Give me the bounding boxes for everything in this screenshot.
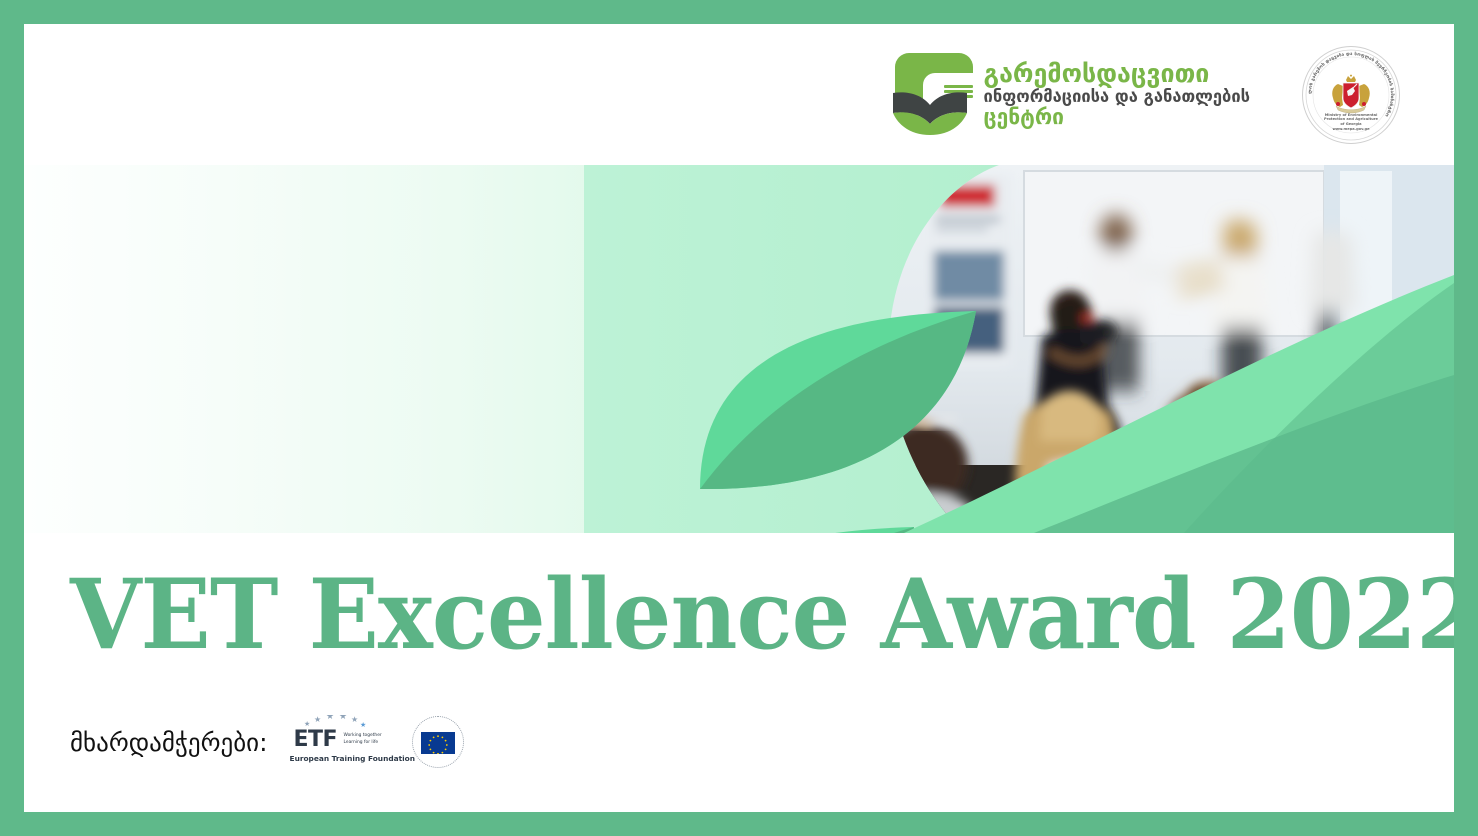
etf-logo[interactable]: ★ ★ ★ ★ ★ ★ ETF Working together Learnin… <box>290 714 390 770</box>
ministry-seal[interactable]: საქართველოს გარემოს დაცვისა და სოფლის მე… <box>1302 46 1400 144</box>
poster-title: VET Excellence Award 2022 <box>70 567 1454 663</box>
eu-flag-icon <box>421 732 455 754</box>
etf-full-name: European Training Foundation <box>290 754 416 763</box>
geic-line-2: ინფორმაციისა და განათლების <box>984 89 1250 106</box>
open-book-icon <box>887 83 973 137</box>
hero-banner <box>24 165 1454 533</box>
header-band: გარემოსდაცვითი ინფორმაციისა და განათლები… <box>24 24 1454 165</box>
supporters-label: მხარდამჭერები: <box>70 728 268 757</box>
logo-group: გარემოსდაცვითი ინფორმაციისა და განათლები… <box>887 46 1400 144</box>
seal-english-text: Ministry of Environmental Protection and… <box>1303 113 1399 132</box>
svg-text:★: ★ <box>339 715 347 722</box>
book-in-square-icon <box>887 53 973 137</box>
hero-artwork <box>24 165 1454 533</box>
etf-tagline-line-2: Learning for life <box>344 740 382 747</box>
etf-tagline: Working together Learning for life <box>344 733 382 746</box>
geic-logo[interactable]: გარემოსდაცვითი ინფორმაციისა და განათლები… <box>887 53 1250 137</box>
etf-tagline-line-1: Working together <box>344 733 382 740</box>
seal-eng-line-3: www.mepa.gov.ge <box>1303 127 1399 132</box>
geic-logo-text: გარემოსდაცვითი ინფორმაციისა და განათლები… <box>984 61 1250 129</box>
geic-line-3: ცენტრი <box>984 107 1250 128</box>
supporters-row: მხარდამჭერები: ★ ★ ★ ★ ★ ★ ETF <box>70 714 464 770</box>
georgia-coat-of-arms-icon <box>1326 74 1376 114</box>
title-section: VET Excellence Award 2022 <box>24 533 1454 683</box>
european-union-seal[interactable] <box>412 716 464 768</box>
svg-text:★: ★ <box>351 715 358 724</box>
svg-text:★: ★ <box>360 721 366 729</box>
geic-line-1: გარემოსდაცვითი <box>984 61 1250 86</box>
poster-sheet: გარემოსდაცვითი ინფორმაციისა და განათლები… <box>24 24 1454 812</box>
svg-text:★: ★ <box>326 715 334 722</box>
poster-root: გარემოსდაცვითი ინფორმაციისა და განათლები… <box>0 0 1478 836</box>
etf-acronym: ETF <box>294 729 338 751</box>
svg-text:★: ★ <box>314 715 321 724</box>
